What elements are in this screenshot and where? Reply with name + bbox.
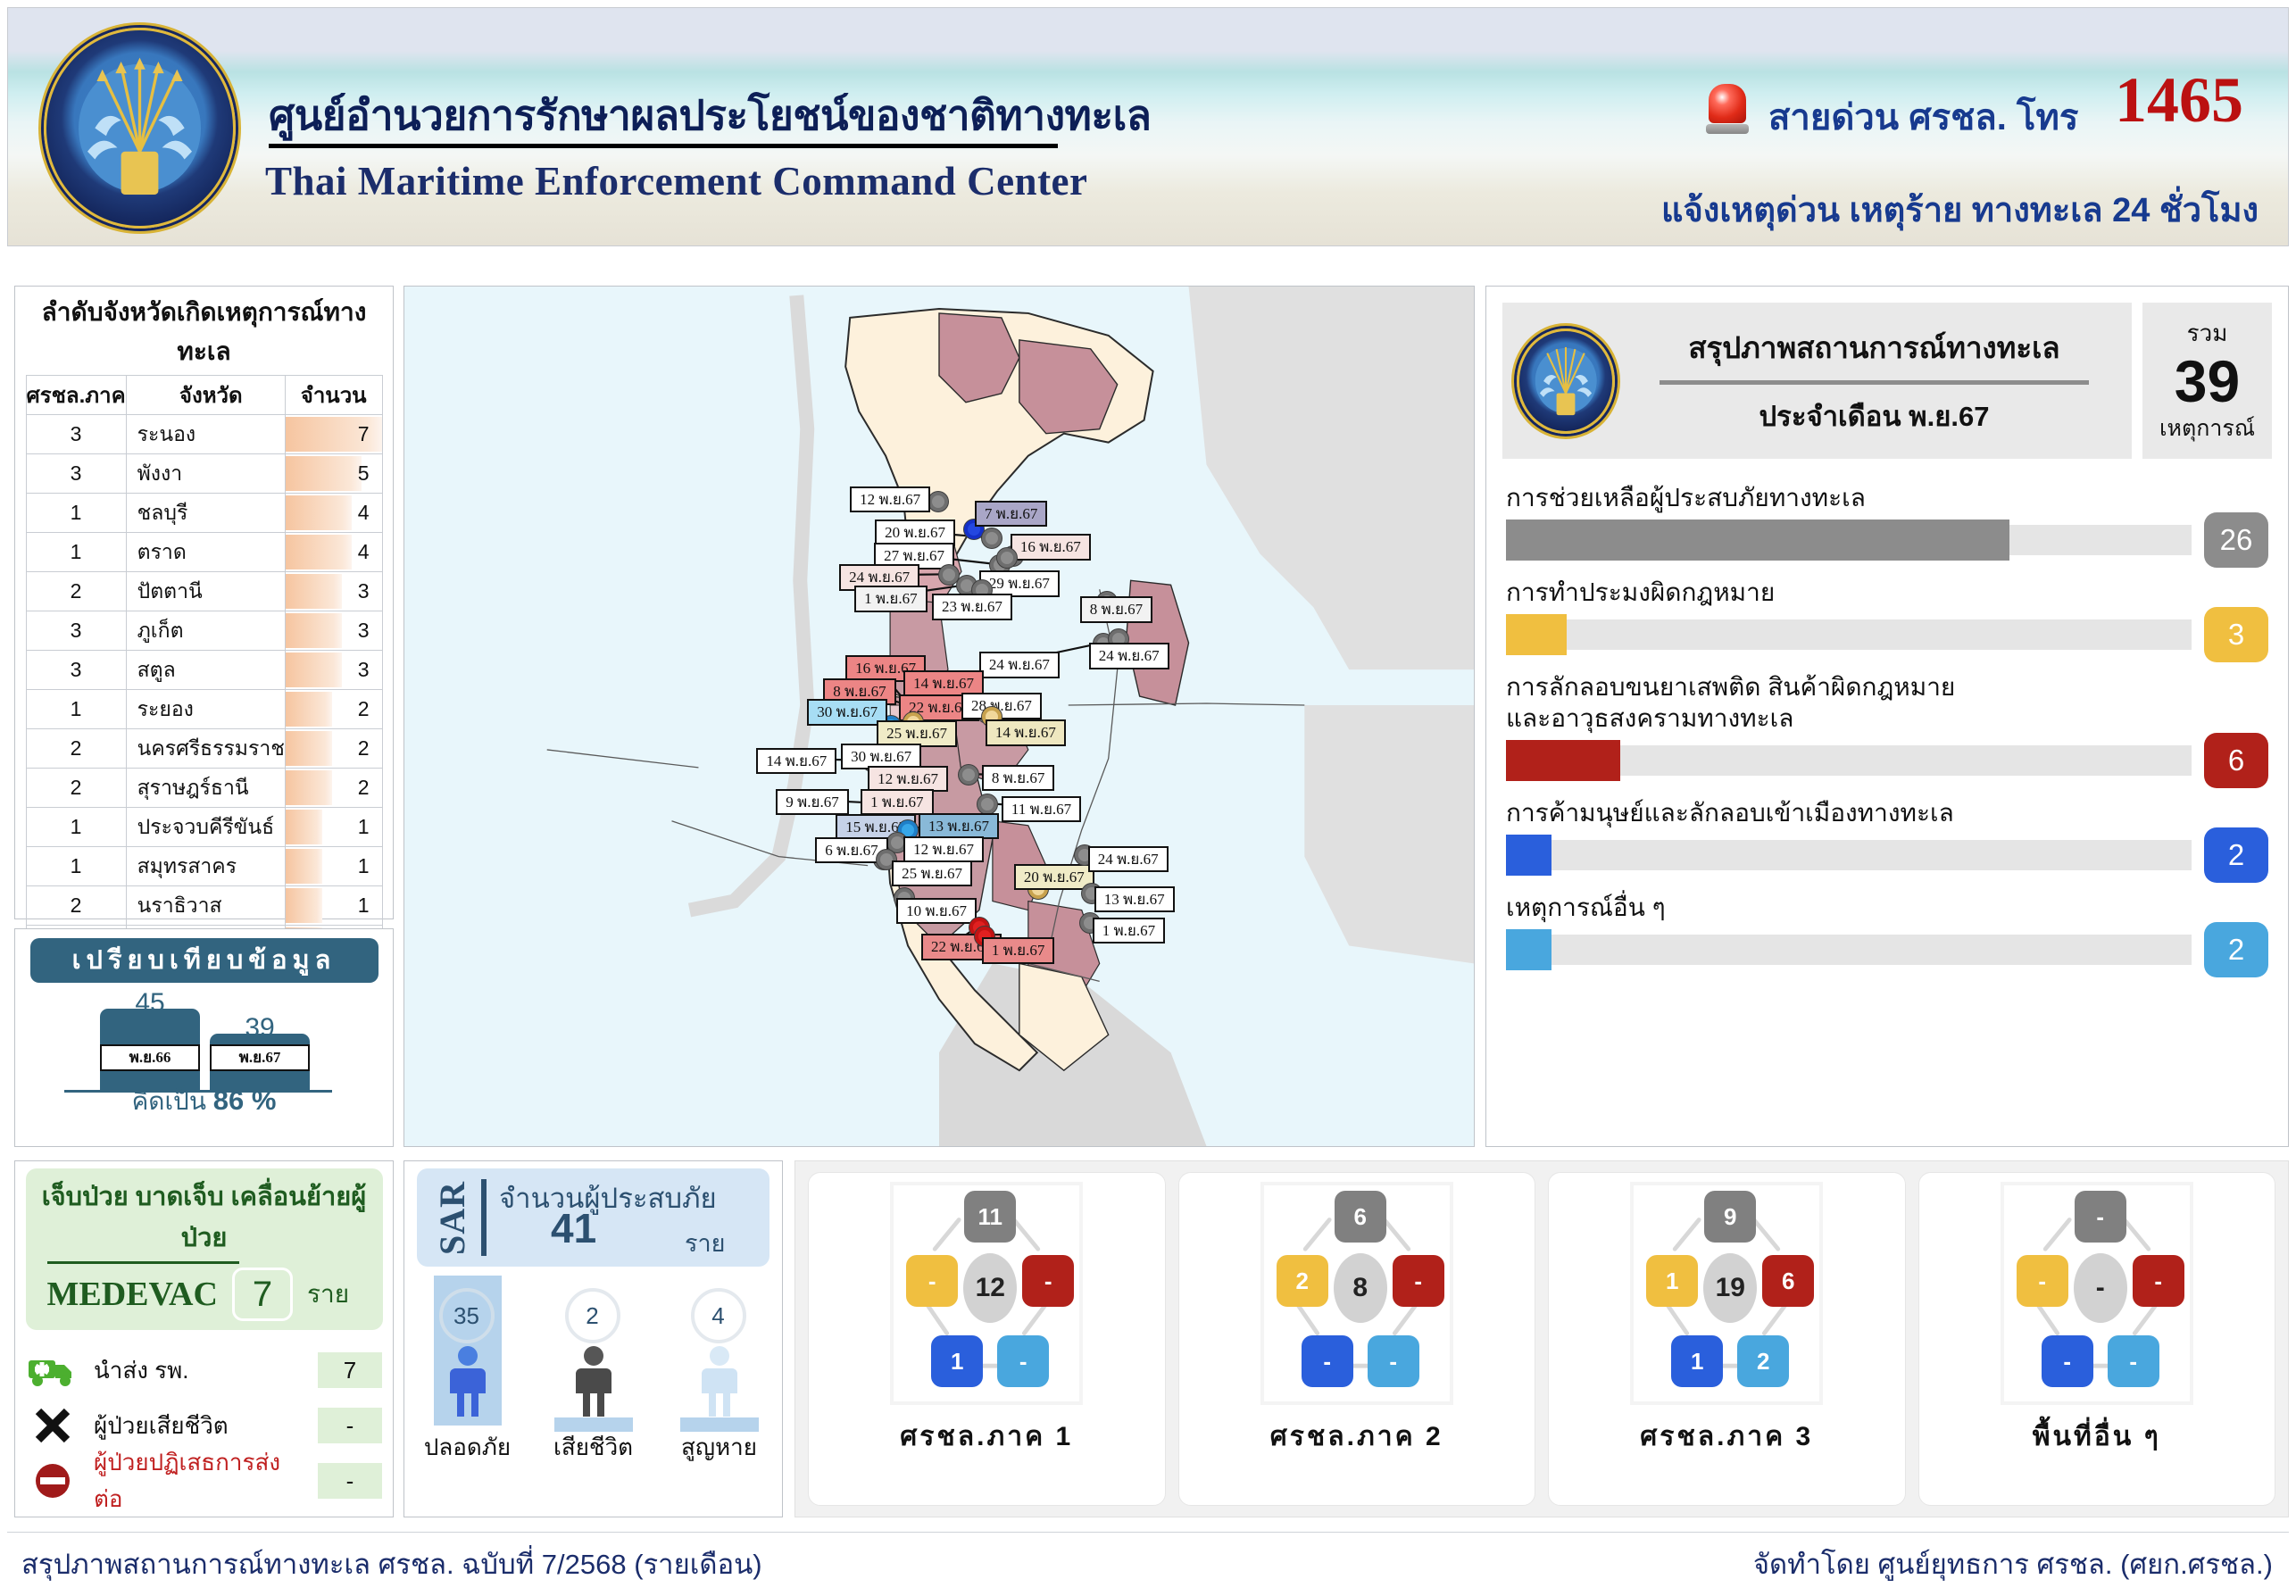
col-header-province: จังหวัด: [126, 376, 285, 415]
cell-count: 4: [285, 533, 382, 572]
map-marker-label: 1 พ.ย.67: [982, 937, 1054, 964]
footer-right-text: จัดทำโดย ศูนย์ยุทธการ ศรชล. (ศยก.ศรชล.): [1753, 1542, 2273, 1586]
cell-region: 3: [26, 651, 126, 690]
cell-province: สุราษฎร์ธานี: [126, 769, 285, 808]
count-value: 4: [358, 540, 370, 563]
map-marker-label: 24 พ.ย.67: [979, 652, 1060, 678]
cell-province: ระยอง: [126, 690, 285, 729]
count-value: 2: [358, 736, 370, 760]
summary-title-line1: สรุปภาพสถานการณ์ทางทะเล: [1631, 324, 2117, 371]
count-bar: [286, 731, 332, 766]
medevac-unit: ราย: [307, 1275, 349, 1314]
map-marker-label: 8 พ.ย.67: [982, 765, 1054, 792]
region-node-center: -: [2074, 1253, 2127, 1323]
map-marker-label: 8 พ.ย.67: [1080, 596, 1152, 623]
region-card[interactable]: 11--1-12ศรชล.ภาค 1: [808, 1172, 1166, 1506]
region-node-right: -: [1393, 1255, 1444, 1307]
cell-count: 3: [285, 572, 382, 611]
sar-divider: [481, 1179, 487, 1256]
compare-label-1: พ.ย.67: [210, 1044, 310, 1071]
table-row: 1ประจวบคีรีขันธ์1: [26, 808, 382, 847]
table-row: 1สมุทรสาคร1: [26, 847, 382, 886]
region-node-br: -: [997, 1335, 1049, 1387]
region-node-left: 1: [1646, 1255, 1698, 1307]
situation-summary-panel: สรุปภาพสถานการณ์ทางทะเล ประจำเดือน พ.ย.6…: [1485, 286, 2289, 1147]
region-card[interactable]: ------พื้นที่อื่น ๆ: [1918, 1172, 2276, 1506]
category-track: [1551, 840, 2192, 870]
cell-count: 2: [285, 690, 382, 729]
map-marker[interactable]: [928, 492, 948, 511]
sar-value-dead: 2: [565, 1288, 620, 1343]
map-marker-label: 12 พ.ย.67: [850, 486, 930, 513]
medevac-count: 7: [232, 1268, 293, 1321]
cross-icon: [26, 1406, 79, 1445]
category-bar: 3: [1506, 614, 2268, 655]
region-node-top: 11: [964, 1191, 1016, 1243]
map-marker-label: 30 พ.ย.67: [807, 699, 887, 726]
category-label: เหตุการณ์อื่น ๆ: [1506, 892, 2268, 924]
header-title-english: Thai Maritime Enforcement Command Center: [265, 158, 1088, 204]
cell-province: ตราด: [126, 533, 285, 572]
list-item: นำส่ง รพ. 7: [15, 1342, 393, 1398]
category-fill: [1506, 740, 1620, 781]
table-row: 2นครศรีธรรมราช2: [26, 729, 382, 769]
cell-count: 1: [285, 847, 382, 886]
region-node-left: -: [906, 1255, 958, 1307]
region-card[interactable]: 9161219ศรชล.ภาค 3: [1548, 1172, 1906, 1506]
table-row: 1ชลบุรี4: [26, 494, 382, 533]
count-value: 1: [358, 854, 370, 877]
medevac-item-value: -: [318, 1408, 382, 1443]
page-footer: สรุปภาพสถานการณ์ทางทะเล ศรชล. ฉบับที่ 7/…: [7, 1532, 2289, 1589]
category-track: [1620, 745, 2192, 776]
category-label: การค้ามนุษย์และลักลอบเข้าเมืองทางทะเล: [1506, 797, 2268, 829]
table-row: 1ระยอง2: [26, 690, 382, 729]
cell-province: ประจวบคีรีขันธ์: [126, 808, 285, 847]
category-row: การช่วยเหลือผู้ประสบภัยทางทะเล26: [1506, 482, 2268, 561]
command-center-seal: [44, 28, 236, 229]
medevac-item-label: ผู้ป่วยปฏิเสธการส่งต่อ: [94, 1444, 304, 1517]
cell-count: 4: [285, 494, 382, 533]
category-label-line: การลักลอบขนยาเสพติด สินค้าผิดกฎหมาย: [1506, 671, 2268, 703]
sar-panel: SAR จำนวนผู้ประสบภัย 41 ราย 35 ปลอดภัย 2: [403, 1160, 783, 1517]
siren-icon: [1706, 84, 1749, 134]
category-value-badge: 3: [2204, 607, 2268, 662]
map-marker-label: 11 พ.ย.67: [1002, 796, 1081, 823]
person-icon-dead: [567, 1345, 620, 1418]
summary-total-card: รวม 39 เหตุการณ์: [2142, 303, 2272, 459]
table-row: 2สุราษฎร์ธานี2: [26, 769, 382, 808]
person-icon-safe: [441, 1345, 495, 1418]
table-row: 2นราธิวาส1: [26, 886, 382, 926]
total-unit: เหตุการณ์: [2148, 411, 2267, 446]
category-label-line: การช่วยเหลือผู้ประสบภัยทางทะเล: [1506, 482, 2268, 514]
count-value: 7: [358, 422, 370, 445]
summary-title-divider: [1660, 380, 2089, 385]
map-marker-label: 28 พ.ย.67: [961, 693, 1042, 719]
region-node-right: -: [2133, 1255, 2184, 1307]
summary-seal-icon: [1517, 328, 1615, 434]
cell-province: นราธิวาส: [126, 886, 285, 926]
category-label-line: การทำประมงผิดกฎหมาย: [1506, 577, 2268, 609]
region-node-diagram: ------: [2001, 1182, 2193, 1405]
region-summary-cards: 11--1-12ศรชล.ภาค 162---8ศรชล.ภาค 2916121…: [794, 1160, 2289, 1517]
region-node-br: -: [2108, 1335, 2159, 1387]
category-label: การทำประมงผิดกฎหมาย: [1506, 577, 2268, 609]
cell-count: 7: [285, 415, 382, 454]
region-label: ศรชล.ภาค 2: [1270, 1416, 1443, 1458]
map-marker-label: 10 พ.ย.67: [896, 898, 977, 925]
category-row: เหตุการณ์อื่น ๆ2: [1506, 892, 2268, 970]
region-node-center: 12: [963, 1253, 1017, 1323]
region-node-top: -: [2075, 1191, 2126, 1243]
summary-title-card: สรุปภาพสถานการณ์ทางทะเล ประจำเดือน พ.ย.6…: [1502, 303, 2132, 459]
cell-region: 2: [26, 886, 126, 926]
cell-count: 1: [285, 808, 382, 847]
map-marker-label: 1 พ.ย.67: [854, 586, 927, 612]
hotline-label: สายด่วน ศรชล. โทร: [1768, 88, 2078, 145]
sar-title: จำนวนผู้ประสบภัย: [499, 1176, 717, 1220]
category-row: การค้ามนุษย์และลักลอบเข้าเมืองทางทะเล2: [1506, 797, 2268, 876]
hotline-subtext: แจ้งเหตุด่วน เหตุร้าย ทางทะเล 24 ชั่วโมง: [1661, 182, 2259, 237]
count-value: 5: [358, 461, 370, 485]
cell-region: 1: [26, 533, 126, 572]
list-item: ผู้ป่วยปฏิเสธการส่งต่อ -: [15, 1453, 393, 1509]
region-node-br: 2: [1737, 1335, 1789, 1387]
category-label: การช่วยเหลือผู้ประสบภัยทางทะเล: [1506, 482, 2268, 514]
cell-province: สตูล: [126, 651, 285, 690]
category-value-badge: 26: [2204, 512, 2268, 568]
region-node-bl: -: [1302, 1335, 1353, 1387]
table-row: 1ตราด4: [26, 533, 382, 572]
region-card[interactable]: 62---8ศรชล.ภาค 2: [1178, 1172, 1536, 1506]
map-marker-label: 25 พ.ย.67: [892, 860, 972, 887]
map-marker-label: 23 พ.ย.67: [932, 594, 1012, 620]
medevac-item-label: นำส่ง รพ.: [94, 1352, 304, 1389]
medevac-panel: เจ็บป่วย บาดเจ็บ เคลื่อนย้ายผู้ป่วย MEDE…: [14, 1160, 394, 1517]
ambulance-icon: [26, 1353, 79, 1387]
sar-count: 41: [551, 1204, 596, 1252]
region-node-top: 9: [1704, 1191, 1756, 1243]
summary-header-row: สรุปภาพสถานการณ์ทางทะเล ประจำเดือน พ.ย.6…: [1486, 287, 2288, 459]
cell-province: นครศรีธรรมราช: [126, 729, 285, 769]
map-marker-label: 7 พ.ย.67: [975, 501, 1047, 528]
cell-count: 2: [285, 729, 382, 769]
category-bar: 2: [1506, 835, 2268, 876]
cell-region: 3: [26, 611, 126, 651]
region-label: พื้นที่อื่น ๆ: [2033, 1416, 2161, 1458]
category-fill: [1506, 614, 1567, 655]
count-bar: [286, 653, 342, 687]
sar-figure-safe: 35 ปลอดภัย: [418, 1276, 518, 1459]
cell-count: 1: [285, 886, 382, 926]
col-header-region: ศรชล.ภาค: [26, 376, 126, 415]
category-bar: 2: [1506, 929, 2268, 970]
sar-unit: ราย: [685, 1224, 725, 1262]
region-node-center: 19: [1703, 1253, 1757, 1323]
category-bar: 6: [1506, 740, 2268, 781]
map-marker[interactable]: [959, 765, 978, 785]
category-bar: 26: [1506, 520, 2268, 561]
map-marker[interactable]: [977, 794, 997, 814]
region-node-center: 8: [1334, 1253, 1387, 1323]
category-track: [1567, 619, 2192, 650]
total-value: 39: [2148, 352, 2267, 411]
category-label: การลักลอบขนยาเสพติด สินค้าผิดกฎหมายและอา…: [1506, 671, 2268, 736]
category-track: [2009, 525, 2192, 555]
medevac-item-list: นำส่ง รพ. 7 ผู้ป่วยเสียชีวิต -: [15, 1342, 393, 1509]
page-header: ศูนย์อำนวยการรักษาผลประโยชน์ของชาติทางทะ…: [7, 7, 2289, 246]
province-table: ศรชล.ภาค จังหวัด จำนวน 3ระนอง73พังงา51ชล…: [26, 375, 383, 965]
count-value: 4: [358, 501, 370, 524]
category-label-line: เหตุการณ์อื่น ๆ: [1506, 892, 2268, 924]
compare-label-0: พ.ย.66: [100, 1044, 200, 1071]
table-row: 3ระนอง7: [26, 415, 382, 454]
category-row: การลักลอบขนยาเสพติด สินค้าผิดกฎหมายและอา…: [1506, 671, 2268, 782]
region-node-right: -: [1022, 1255, 1074, 1307]
category-fill: [1506, 835, 1551, 876]
cell-region: 1: [26, 847, 126, 886]
sar-header: SAR จำนวนผู้ประสบภัย 41 ราย: [417, 1168, 769, 1267]
map-marker-label: 1 พ.ย.67: [861, 789, 933, 816]
sar-abbreviation: SAR: [431, 1179, 478, 1256]
region-label: ศรชล.ภาค 3: [1640, 1416, 1813, 1458]
map-marker-label: 14 พ.ย.67: [756, 748, 836, 775]
region-node-bl: -: [2042, 1335, 2093, 1387]
sar-label-dead: เสียชีวิต: [533, 1429, 654, 1466]
category-track: [1551, 935, 2192, 965]
category-value-badge: 2: [2204, 922, 2268, 977]
region-label: ศรชล.ภาค 1: [900, 1416, 1073, 1458]
sar-figure-group: 35 ปลอดภัย 2 เสียชีวิต 4: [404, 1276, 782, 1459]
table-header-row: ศรชล.ภาค จังหวัด จำนวน: [26, 376, 382, 415]
region-node-right: 6: [1762, 1255, 1814, 1307]
count-bar: [286, 770, 332, 805]
region-node-diagram: 11--1-12: [890, 1182, 1083, 1405]
comparison-panel: เปรียบเทียบข้อมูล 45 พ.ย.66 39 พ.ย.67 คิ…: [14, 928, 394, 1147]
count-bar: [286, 574, 342, 609]
region-node-diagram: 62---8: [1260, 1182, 1453, 1405]
cell-region: 3: [26, 415, 126, 454]
summary-title-line2: ประจำเดือน พ.ย.67: [1631, 394, 2117, 438]
sar-label-missing: สูญหาย: [659, 1429, 780, 1466]
region-node-bl: 1: [931, 1335, 983, 1387]
map-marker-label: 13 พ.ย.67: [1094, 886, 1175, 913]
count-bar: [286, 495, 352, 530]
medevac-item-label: ผู้ป่วยเสียชีวิต: [94, 1408, 304, 1444]
map-marker-label: 16 พ.ย.67: [1011, 534, 1091, 561]
footer-left-text: สรุปภาพสถานการณ์ทางทะเล ศรชล. ฉบับที่ 7/…: [21, 1542, 762, 1586]
compare-percent-value: 86 %: [213, 1085, 277, 1116]
sar-value-missing: 4: [691, 1288, 746, 1343]
cell-count: 5: [285, 454, 382, 494]
table-row: 3ภูเก็ต3: [26, 611, 382, 651]
cell-province: ชลบุรี: [126, 494, 285, 533]
map-marker-label: 9 พ.ย.67: [776, 789, 848, 816]
header-divider: [269, 144, 1058, 148]
col-header-count: จำนวน: [285, 376, 382, 415]
cell-region: 2: [26, 769, 126, 808]
header-title-thai: ศูนย์อำนวยการรักษาผลประโยชน์ของชาติทางทะ…: [269, 83, 1151, 148]
count-bar: [286, 535, 352, 569]
category-row: การทำประมงผิดกฎหมาย3: [1506, 577, 2268, 655]
cell-region: 2: [26, 572, 126, 611]
cell-province: พังงา: [126, 454, 285, 494]
count-bar: [286, 613, 342, 648]
count-bar: [286, 888, 322, 923]
count-bar: [286, 692, 332, 727]
medevac-word: MEDEVAC: [47, 1275, 218, 1314]
category-fill: [1506, 929, 1551, 970]
medevac-header: เจ็บป่วย บาดเจ็บ เคลื่อนย้ายผู้ป่วย MEDE…: [26, 1168, 383, 1330]
cell-region: 1: [26, 690, 126, 729]
dashboard-page: ศูนย์อำนวยการรักษาผลประโยชน์ของชาติทางทะ…: [0, 0, 2296, 1596]
count-value: 2: [358, 697, 370, 720]
count-bar: [286, 810, 322, 844]
province-incidents-panel: ลำดับจังหวัดเกิดเหตุการณ์ทางทะเล ศรชล.ภา…: [14, 286, 394, 919]
person-icon-missing: [693, 1345, 746, 1418]
cell-province: สมุทรสาคร: [126, 847, 285, 886]
category-label-line: และอาวุธสงครามทางทะเล: [1506, 702, 2268, 735]
compare-percent-prefix: คิดเป็น: [132, 1087, 206, 1115]
count-value: 3: [358, 619, 370, 642]
map-marker-label: 24 พ.ย.67: [1088, 846, 1169, 873]
medevac-divider: [47, 1261, 239, 1264]
category-fill: [1506, 520, 2009, 561]
count-value: 1: [358, 815, 370, 838]
count-value: 3: [358, 658, 370, 681]
map-marker-label: 14 พ.ย.67: [986, 719, 1066, 746]
cell-count: 3: [285, 611, 382, 651]
category-label-line: การค้ามนุษย์และลักลอบเข้าเมืองทางทะเล: [1506, 797, 2268, 829]
incident-map-panel[interactable]: 12 พ.ย.677 พ.ย.6720 พ.ย.6716 พ.ย.6727 พ.…: [403, 286, 1475, 1147]
comparison-title: เปรียบเทียบข้อมูล: [30, 938, 379, 983]
cell-region: 1: [26, 808, 126, 847]
medevac-item-value: -: [318, 1463, 382, 1499]
sar-value-safe: 35: [439, 1288, 495, 1343]
cell-region: 3: [26, 454, 126, 494]
count-bar: [286, 849, 322, 884]
compare-percent: คิดเป็น 86 %: [15, 1082, 393, 1121]
category-value-badge: 2: [2204, 827, 2268, 883]
cell-province: ระนอง: [126, 415, 285, 454]
count-value: 1: [358, 894, 370, 917]
medevac-header-title: เจ็บป่วย บาดเจ็บ เคลื่อนย้ายผู้ป่วย: [35, 1176, 374, 1258]
region-node-left: -: [2017, 1255, 2068, 1307]
sar-figure-dead: 2 เสียชีวิต: [544, 1276, 644, 1459]
map-marker-label: 1 พ.ย.67: [1093, 918, 1165, 944]
category-bar-list: การช่วยเหลือผู้ประสบภัยทางทะเล26การทำประ…: [1486, 459, 2288, 970]
region-node-bl: 1: [1671, 1335, 1723, 1387]
count-value: 3: [358, 579, 370, 603]
region-node-br: -: [1368, 1335, 1419, 1387]
region-node-diagram: 9161219: [1630, 1182, 1823, 1405]
region-node-top: 6: [1335, 1191, 1386, 1243]
cell-region: 1: [26, 494, 126, 533]
table-row: 2ปัตตานี3: [26, 572, 382, 611]
comparison-chart: 45 พ.ย.66 39 พ.ย.67 คิดเป็น 86 %: [15, 986, 393, 1116]
cell-count: 2: [285, 769, 382, 808]
cell-province: ปัตตานี: [126, 572, 285, 611]
medevac-item-value: 7: [318, 1352, 382, 1388]
table-row: 3พังงา5: [26, 454, 382, 494]
compare-bar-0: พ.ย.66: [100, 1009, 200, 1091]
cell-count: 3: [285, 651, 382, 690]
cell-region: 2: [26, 729, 126, 769]
province-table-title: ลำดับจังหวัดเกิดเหตุการณ์ทางทะเล: [15, 287, 393, 375]
category-value-badge: 6: [2204, 733, 2268, 788]
map-marker-label: 12 พ.ย.67: [903, 836, 984, 863]
no-entry-icon: [26, 1461, 79, 1500]
count-value: 2: [358, 776, 370, 799]
hotline-number[interactable]: 1465: [2115, 63, 2243, 137]
count-bar: [286, 456, 362, 491]
cell-province: ภูเก็ต: [126, 611, 285, 651]
sar-figure-missing: 4 สูญหาย: [670, 1276, 769, 1459]
sar-label-safe: ปลอดภัย: [407, 1429, 528, 1466]
map-marker-label: 20 พ.ย.67: [1014, 864, 1094, 891]
table-row: 3สตูล3: [26, 651, 382, 690]
map-marker-label: 24 พ.ย.67: [1089, 643, 1169, 669]
region-node-left: 2: [1277, 1255, 1328, 1307]
total-label: รวม: [2148, 315, 2267, 352]
